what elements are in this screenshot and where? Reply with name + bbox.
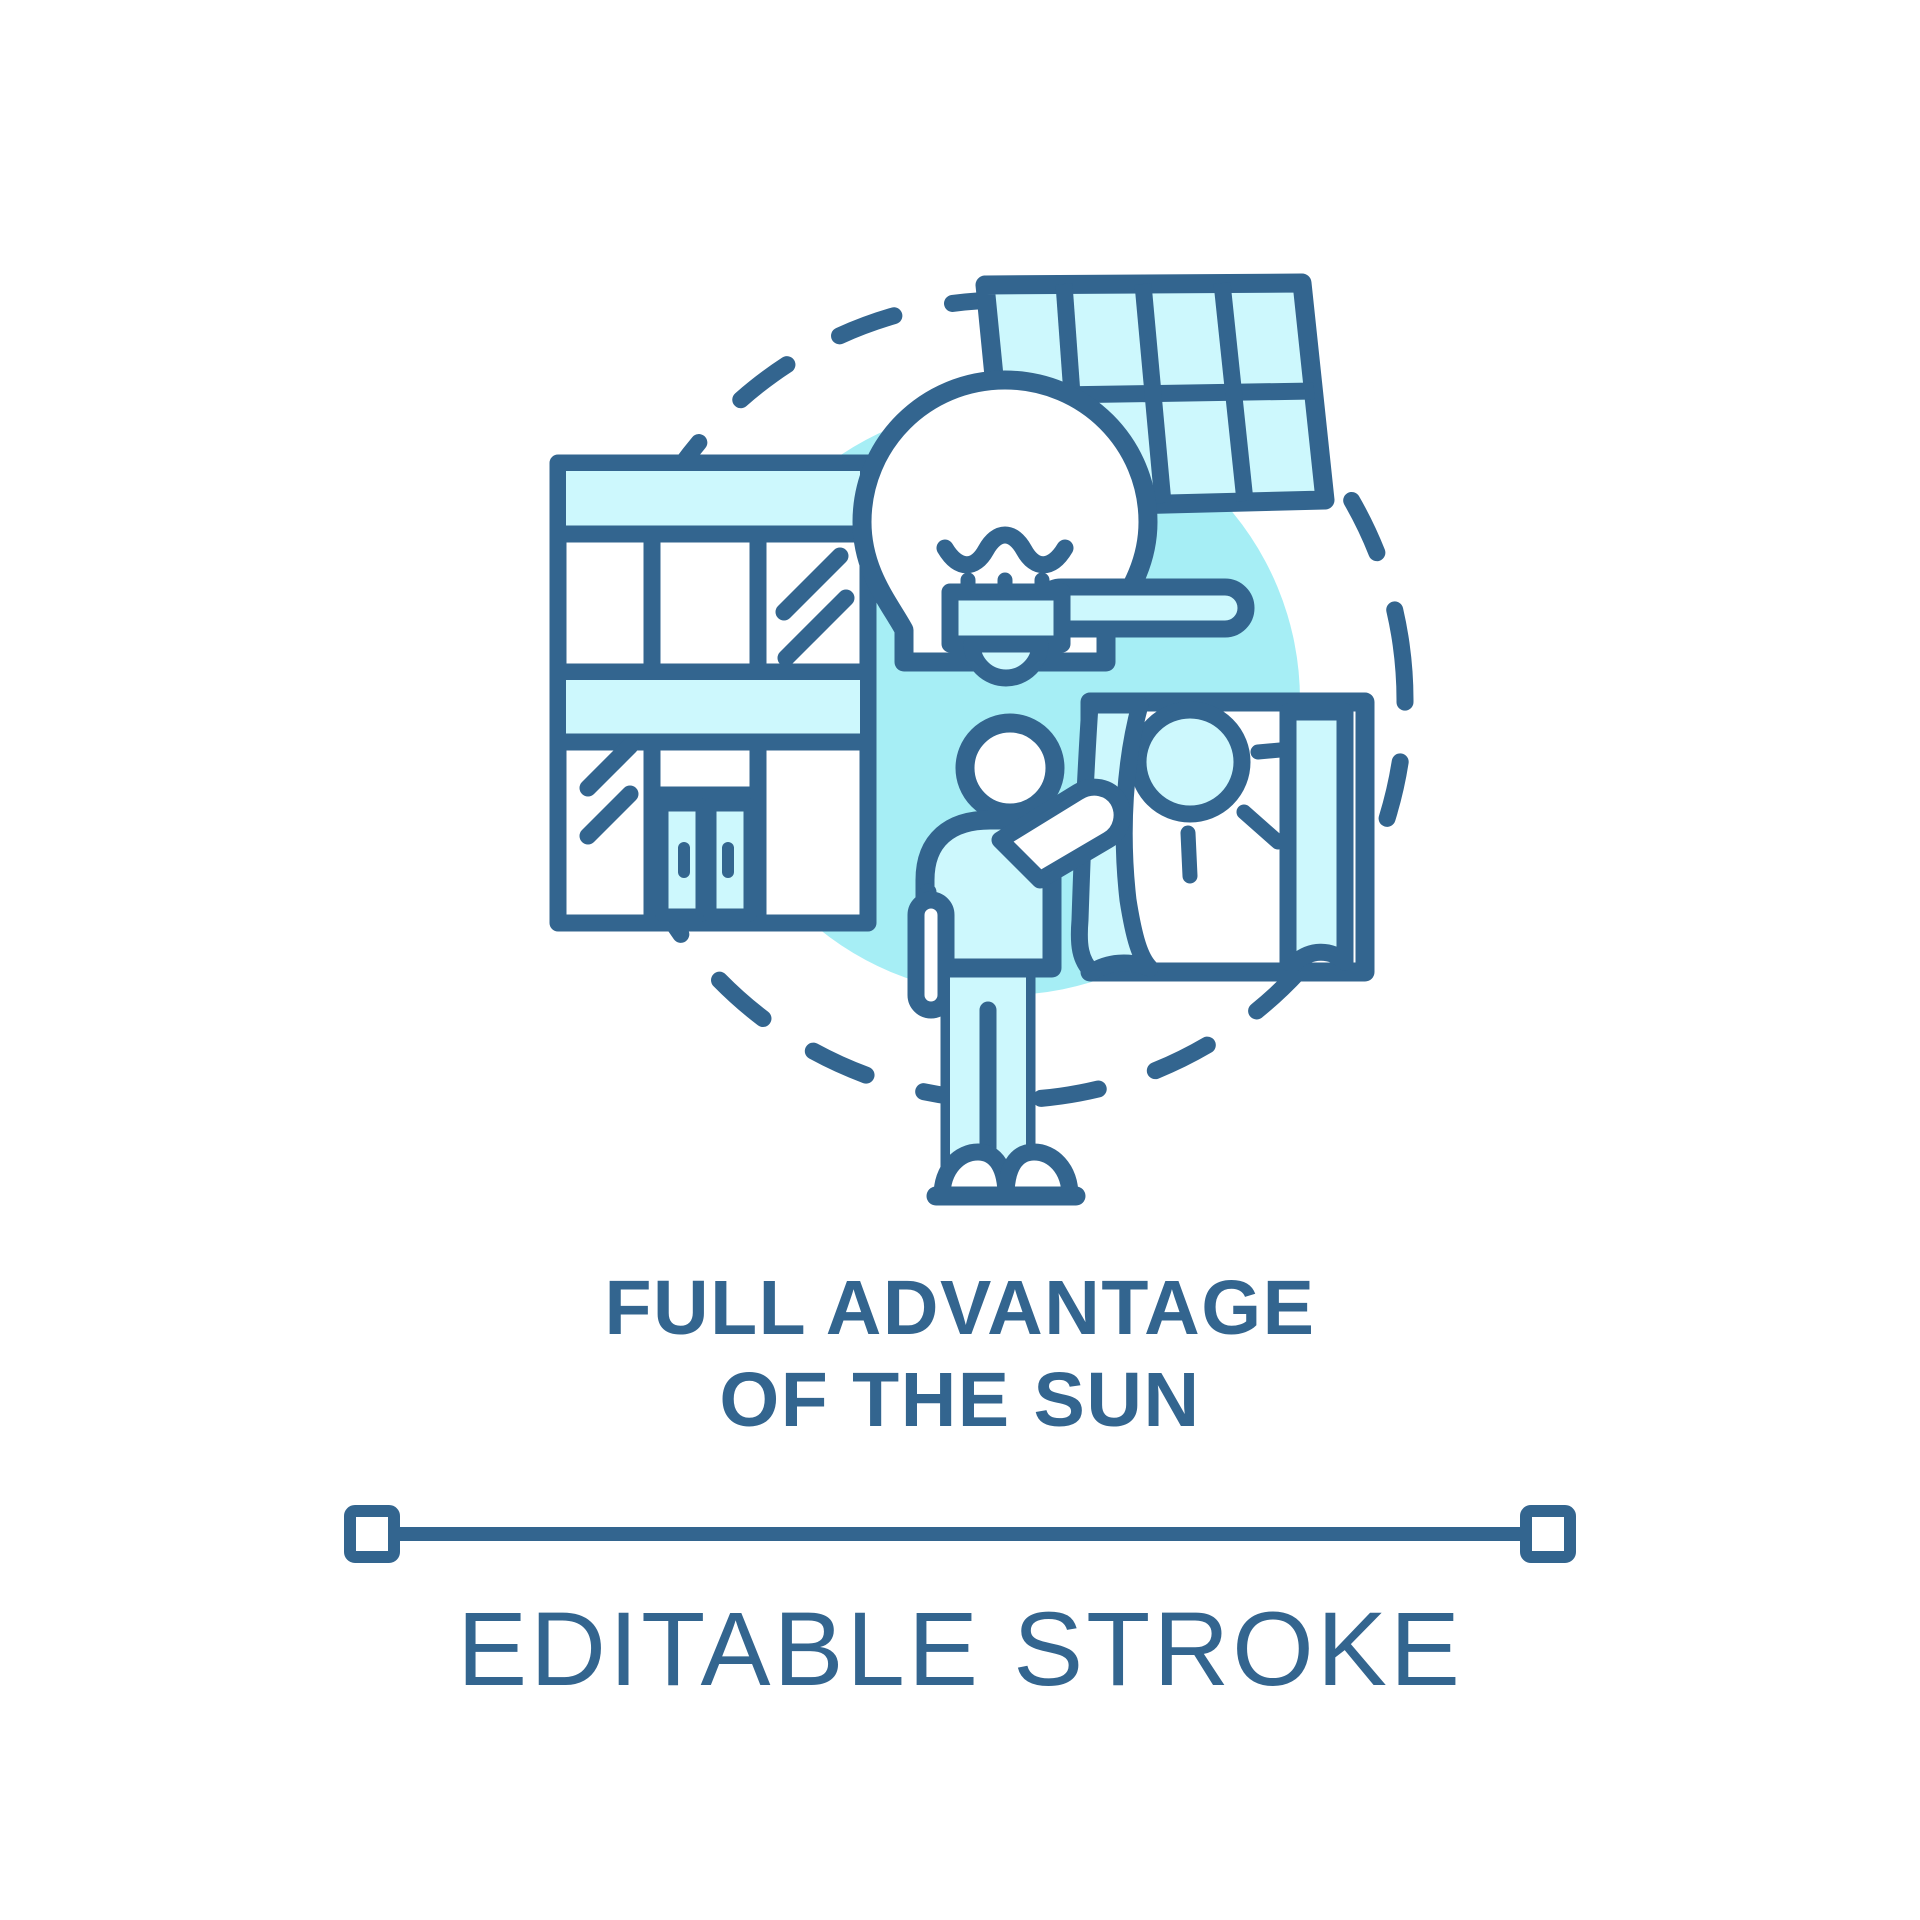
stroke-indicator xyxy=(0,1503,1920,1573)
concept-title: FULL ADVANTAGE OF THE SUN xyxy=(0,1262,1920,1446)
sun-disc xyxy=(1138,710,1242,814)
concept-icon-page: FULL ADVANTAGE OF THE SUN EDITABLE STROK… xyxy=(0,0,1920,1920)
title-line-1: FULL ADVANTAGE xyxy=(0,1262,1920,1354)
square-handle-right[interactable] xyxy=(1526,1511,1570,1557)
title-line-2: OF THE SUN xyxy=(0,1354,1920,1446)
facade-mid-band xyxy=(566,680,860,738)
illustration-area xyxy=(0,0,1920,1260)
building-facade-window xyxy=(558,463,868,923)
stroke-indicator-svg xyxy=(344,1503,1576,1565)
curtain-right-panel xyxy=(1288,712,1345,962)
editable-stroke-label: EDITABLE STROKE xyxy=(0,1590,1920,1710)
concept-illustration-svg xyxy=(0,0,1920,1260)
facade-top-band xyxy=(566,471,860,531)
person-head xyxy=(965,723,1055,813)
square-handle-left[interactable] xyxy=(350,1511,394,1557)
bulb-tip xyxy=(972,644,1040,678)
bulb-rod xyxy=(1040,587,1246,629)
